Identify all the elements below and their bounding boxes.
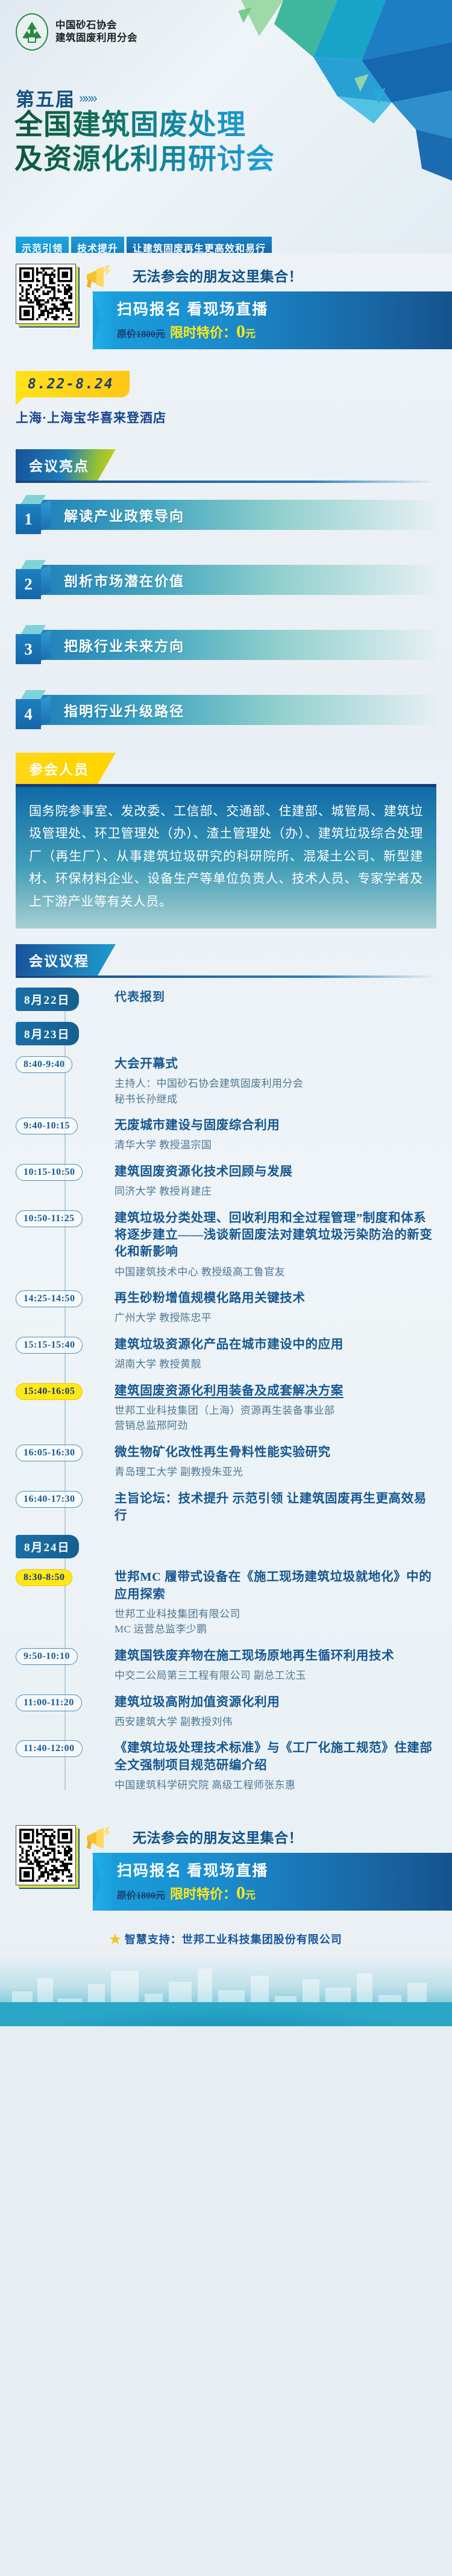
recycle-logo-icon [16, 13, 48, 51]
agenda-session-speaker: 西安建筑大学 副教授刘伟 [115, 1714, 436, 1730]
agenda-session-speaker: 秘书长孙继成 [115, 1092, 436, 1107]
agenda-session-speaker: 青岛理工大学 副教授朱亚光 [115, 1464, 436, 1480]
agenda-time-badge: 10:50-11:25 [16, 1210, 83, 1227]
sale-label: 限时特价： [170, 1887, 236, 1902]
agenda-session-row: 11:00-11:20建筑垃圾高附加值资源化利用西安建筑大学 副教授刘伟 [16, 1693, 436, 1730]
highlight-cube-icon: 4 [16, 690, 51, 730]
association-name: 中国砂石协会 建筑固废利用分会 [55, 19, 137, 45]
support-text: 智慧支持：世邦工业科技集团股份有限公司 [125, 1934, 342, 1946]
agenda-session-row: 11:40-12:00《建筑垃圾处理技术标准》与《工厂化施工规范》住建部全文强制… [16, 1739, 436, 1793]
agenda-session-row: 16:40-17:30主旨论坛：技术提升 示范引领 让建筑固废再生更高效易行 [16, 1490, 436, 1525]
agenda-day-row: 8月23日 [16, 1021, 436, 1045]
agenda-time-badge: 15:40-16:05 [16, 1383, 83, 1400]
agenda-time-badge: 10:15-10:50 [16, 1164, 83, 1181]
agenda-day-badge: 8月22日 [16, 988, 79, 1011]
agenda-session-speaker: 营销总监邢阿劲 [115, 1418, 436, 1434]
agenda-session-title: 建筑固废资源化技术回顾与发展 [115, 1163, 436, 1180]
highlight-label: 指明行业升级路径 [64, 700, 184, 720]
agenda-time-badge: 8:30-8:50 [16, 1569, 72, 1586]
event-date-badge: 8.22-8.24 [16, 371, 130, 397]
highlight-cube-icon: 1 [16, 495, 51, 535]
qr-code-bottom[interactable] [16, 1825, 78, 1885]
agenda-session-row: 10:50-11:25建筑垃圾分类处理、回收利用和全过程管理”制度和体系将逐步建… [16, 1209, 436, 1280]
agenda-session-row: 8:30-8:50世邦MC 履带式设备在《施工现场建筑垃圾就地化》中的应用探索世… [16, 1568, 436, 1637]
agenda-day-badge: 8月24日 [16, 1535, 79, 1558]
agenda-time-badge: 14:25-14:50 [16, 1290, 83, 1307]
support-line: ★ 智慧支持：世邦工业科技集团股份有限公司 [0, 1921, 452, 1954]
agenda-session-speaker: 世邦工业科技集团（上海）资源再生装备事业部 [115, 1403, 436, 1419]
highlight-label: 解读产业政策导向 [64, 505, 184, 525]
highlight-row: 2剖析市场潜在价值 [16, 558, 436, 602]
agenda-time-badge: 9:50-10:10 [16, 1648, 78, 1665]
agenda-session-title: 建筑垃圾高附加值资源化利用 [115, 1694, 436, 1711]
org-line-2: 建筑固废利用分会 [55, 32, 137, 45]
edition-number: 第五届 [16, 84, 75, 111]
highlight-number: 4 [16, 699, 41, 729]
star-icon: ★ [110, 1934, 121, 1946]
agenda-session-title: 建筑固废资源化利用装备及成套解决方案 [115, 1383, 436, 1399]
attendees-section-title: 参会人员 [16, 753, 116, 784]
agenda-session-speaker: 中国建筑技术中心 教授级高工鲁官友 [115, 1265, 436, 1280]
org-line-1: 中国砂石协会 [55, 19, 137, 32]
registration-cta-ribbon[interactable]: 扫码报名 看现场直播 原价1800元 限时特价：0元 [93, 1853, 452, 1911]
tagline-item-1: 示范引领 [16, 237, 69, 253]
agenda-session-speaker: 同济大学 教授肖建庄 [115, 1184, 436, 1199]
title-line-2: 及资源化利用研讨会 [14, 143, 275, 177]
agenda-session-speaker: 主持人：中国砂石协会建筑固废利用分会 [115, 1076, 436, 1092]
agenda-session-row: 14:25-14:50再生砂粉增值规模化路用关键技术广州大学 教授陈忠平 [16, 1289, 436, 1326]
agenda-section-title: 会议议程 [16, 944, 116, 975]
agenda-time-badge: 16:40-17:30 [16, 1491, 83, 1508]
sale-unit: 元 [245, 1890, 256, 1901]
agenda-session-title: 再生砂粉增值规模化路用关键技术 [115, 1290, 436, 1307]
event-venue: 上海·上海宝华喜来登酒店 [16, 408, 452, 426]
association-logo-row: 中国砂石协会 建筑固废利用分会 [16, 13, 137, 51]
agenda-session-title: 主旨论坛：技术提升 示范引领 让建筑固废再生更高效易行 [115, 1490, 436, 1525]
qr-code-top[interactable] [16, 264, 78, 324]
agenda-session-speaker: 湖南大学 教授黄靓 [115, 1357, 436, 1372]
agenda-time-badge: 9:40-10:15 [16, 1118, 78, 1134]
attendees-body: 国务院参事室、发改委、工信部、交通部、住建部、城管局、建筑垃圾管理处、环卫管理处… [29, 800, 423, 913]
tagline-item-2: 技术提升 [71, 237, 124, 253]
agenda-time-badge: 15:15-15:40 [16, 1337, 83, 1354]
agenda-time-badge: 8:40-9:40 [16, 1056, 72, 1073]
agenda-session-title: 无废城市建设与固废综合利用 [115, 1117, 436, 1134]
highlight-label: 把脉行业未来方向 [64, 635, 184, 655]
agenda-session-title: 《建筑垃圾处理技术标准》与《工厂化施工规范》住建部全文强制项目规范研编介绍 [115, 1740, 436, 1774]
agenda-session-title: 世邦MC 履带式设备在《施工现场建筑垃圾就地化》中的应用探索 [115, 1569, 436, 1603]
sale-price: 限时特价：0元 [170, 1883, 256, 1903]
tagline-item-3: 让建筑固废再生更高效和易行 [127, 237, 272, 253]
registration-headline: 无法参会的朋友这里集合！ [133, 1826, 452, 1847]
original-price: 原价1800元 [117, 1887, 165, 1902]
edition-label: 第五届 »»» [16, 84, 96, 111]
agenda-session-speaker: 广州大学 教授陈忠平 [115, 1310, 436, 1326]
agenda-session-row: 8:40-9:40大会开幕式主持人：中国砂石协会建筑固废利用分会秘书长孙继成 [16, 1055, 436, 1107]
highlight-label: 剖析市场潜在价值 [64, 570, 184, 590]
agenda-session-title: 微生物矿化改性再生骨料性能实验研究 [115, 1444, 436, 1461]
sale-value: 0 [236, 1883, 245, 1903]
highlight-row: 3把脉行业未来方向 [16, 623, 436, 667]
agenda-session-speaker: 中国建筑科学研究院 高级工程师张东惠 [115, 1778, 436, 1793]
highlight-number: 2 [16, 569, 41, 599]
section-divider [16, 481, 436, 483]
sale-price: 限时特价：0元 [170, 322, 256, 342]
highlight-row: 4指明行业升级路径 [16, 688, 436, 732]
agenda-session-title: 建筑国铁废弃物在施工现场原地再生循环利用技术 [115, 1647, 436, 1664]
agenda-session-speaker: 世邦工业科技集团有限公司 [115, 1607, 436, 1622]
agenda-session-row: 9:50-10:10建筑国铁废弃物在施工现场原地再生循环利用技术中交二公局第三工… [16, 1647, 436, 1684]
registration-cta-ribbon[interactable]: 扫码报名 看现场直播 原价1800元 限时特价：0元 [93, 291, 452, 349]
highlights-list: 1解读产业政策导向2剖析市场潜在价值3把脉行业未来方向4指明行业升级路径 [16, 493, 436, 732]
registration-cta-text: 扫码报名 看现场直播 [117, 297, 444, 319]
highlight-cube-icon: 2 [16, 560, 51, 600]
agenda-time-badge: 11:00-11:20 [16, 1694, 82, 1711]
agenda-list: 8月22日代表报到8月23日8:40-9:40大会开幕式主持人：中国砂石协会建筑… [0, 986, 452, 1793]
highlight-number: 3 [16, 634, 41, 664]
megaphone-icon [83, 1826, 115, 1850]
agenda-session-title: 建筑垃圾资源化产品在城市建设中的应用 [115, 1336, 436, 1353]
agenda-session-speaker: MC 运营总监李少鹏 [115, 1622, 436, 1637]
agenda-day-badge: 8月23日 [16, 1022, 79, 1045]
registration-cta-text: 扫码报名 看现场直播 [117, 1859, 444, 1881]
agenda-day-row: 8月24日 [16, 1534, 436, 1558]
qr-code-image [19, 267, 72, 320]
highlight-cube-icon: 3 [16, 625, 51, 665]
agenda-session-title: 大会开幕式 [115, 1056, 436, 1072]
registration-headline: 无法参会的朋友这里集合！ [133, 265, 452, 285]
section-divider [16, 975, 436, 978]
agenda-session-row: 16:05-16:30微生物矿化改性再生骨料性能实验研究青岛理工大学 副教授朱亚… [16, 1443, 436, 1480]
agenda-session-title: 建筑垃圾分类处理、回收利用和全过程管理”制度和体系将逐步建立——浅谈新固废法对建… [115, 1210, 436, 1261]
agenda-session-row: 9:40-10:15无废城市建设与固废综合利用清华大学 教授温宗国 [16, 1116, 436, 1153]
agenda-time-badge: 11:40-12:00 [16, 1740, 83, 1757]
footer-section: ★ 智慧支持：世邦工业科技集团股份有限公司 [0, 1921, 452, 2026]
attendees-section: 参会人员 国务院参事室、发改委、工信部、交通部、住建部、城管局、建筑垃圾管理处、… [0, 753, 452, 929]
highlight-row: 1解读产业政策导向 [16, 493, 436, 537]
skyline-decoration [0, 1954, 452, 2026]
agenda-session-speaker: 中交二公局第三工程有限公司 副总工沈玉 [115, 1668, 436, 1684]
qr-code-image [19, 1829, 72, 1882]
registration-banner-top: 无法参会的朋友这里集合！ 扫码报名 看现场直播 原价1800元 限时特价：0元 [0, 253, 452, 354]
chevron-right-icon: »»» [79, 90, 96, 106]
agenda-session-row: 15:15-15:40建筑垃圾资源化产品在城市建设中的应用湖南大学 教授黄靓 [16, 1336, 436, 1372]
tagline-row: 示范引领 技术提升 让建筑固废再生更高效和易行 [16, 237, 272, 253]
event-datetime-block: 8.22-8.24 上海·上海宝华喜来登酒店 [0, 354, 452, 434]
agenda-day-row: 8月22日代表报到 [16, 986, 436, 1011]
original-price: 原价1800元 [117, 326, 165, 340]
agenda-section: 会议议程 8月22日代表报到8月23日8:40-9:40大会开幕式主持人：中国砂… [0, 944, 452, 1815]
page-title: 全国建筑固废处理 及资源化利用研讨会 [14, 108, 275, 178]
highlights-section: 会议亮点 1解读产业政策导向2剖析市场潜在价值3把脉行业未来方向4指明行业升级路… [0, 449, 452, 732]
agenda-session-title: 代表报到 [115, 987, 436, 1004]
megaphone-icon [83, 265, 115, 289]
sale-unit: 元 [245, 328, 256, 340]
sale-label: 限时特价： [170, 325, 236, 340]
poster-root: 中国砂石协会 建筑固废利用分会 第五届 »»» 全国建筑固废处理 及资源化利用研… [0, 0, 452, 2026]
highlight-number: 1 [16, 504, 41, 534]
hero-section: 中国砂石协会 建筑固废利用分会 第五届 »»» 全国建筑固废处理 及资源化利用研… [0, 0, 452, 253]
agenda-session-row: 10:15-10:50建筑固废资源化技术回顾与发展同济大学 教授肖建庄 [16, 1163, 436, 1199]
registration-banner-bottom: 无法参会的朋友这里集合！ 扫码报名 看现场直播 原价1800元 限时特价：0元 [0, 1814, 452, 1915]
title-line-1: 全国建筑固废处理 [14, 108, 275, 143]
agenda-time-badge: 16:05-16:30 [16, 1445, 83, 1461]
highlights-section-title: 会议亮点 [16, 449, 116, 481]
sale-value: 0 [236, 322, 245, 341]
agenda-session-row: 15:40-16:05建筑固废资源化利用装备及成套解决方案世邦工业科技集团（上海… [16, 1382, 436, 1434]
agenda-session-speaker: 清华大学 教授温宗国 [115, 1137, 436, 1153]
